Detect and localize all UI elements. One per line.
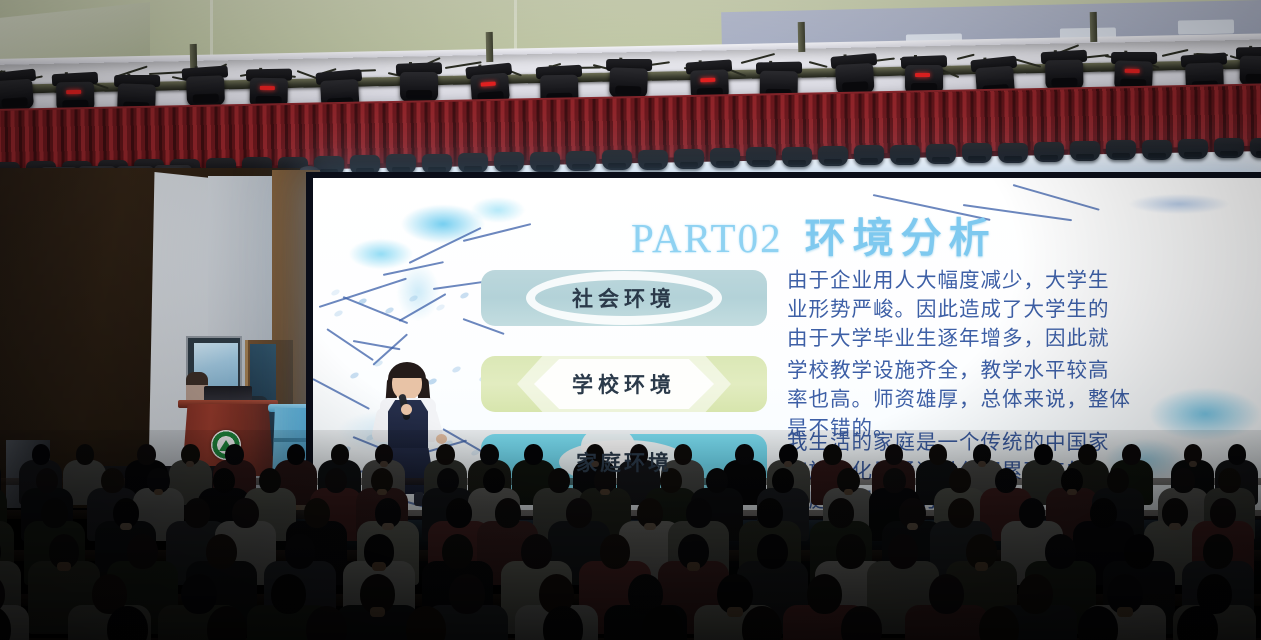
audience-member-neck [186, 461, 194, 466]
audience-member-head [949, 468, 971, 493]
hand [401, 404, 412, 415]
audience-member-head [225, 444, 244, 465]
audience-member-neck [644, 523, 656, 531]
lamp-led-indicator [481, 81, 496, 86]
audience-member-head [32, 444, 51, 465]
audience-member-neck [1189, 461, 1197, 466]
audience-member-neck [978, 461, 986, 466]
stage-light [674, 149, 704, 169]
audience-member-head [437, 468, 459, 493]
audience-member-head [41, 498, 67, 528]
lamp-lens [193, 94, 219, 104]
audience-member-neck [57, 562, 70, 571]
stage-light [530, 152, 560, 172]
stage-light [854, 145, 884, 165]
audience-member-head [735, 444, 754, 465]
audience-member-head [1045, 534, 1076, 569]
stage-light [422, 154, 452, 174]
lamp-body [1240, 56, 1261, 87]
audience-member-head [1078, 444, 1097, 465]
stage-light [746, 147, 776, 167]
audience-member-head [823, 444, 842, 465]
audience-member-neck [120, 523, 132, 531]
stage-light [602, 150, 632, 170]
lamp-body [1045, 59, 1084, 90]
audience-member-head [524, 444, 543, 465]
lamp-led-indicator [700, 77, 715, 82]
audience-member-head [449, 574, 484, 614]
stage-light [1045, 59, 1084, 90]
audience-member-head [888, 534, 919, 569]
section-body-social: 由于企业用人大幅度减少，大学生 业形势严峻。因此造成了大学生的 由于大学毕业生逐… [787, 266, 1110, 353]
audience-member-head [1203, 534, 1234, 569]
section-label-text: 社会环境 [572, 283, 676, 313]
audience-member-head [325, 468, 347, 493]
audience-member-head [232, 498, 258, 528]
audience-member-head [480, 444, 499, 465]
stage-light [1214, 138, 1244, 158]
audience-member-head [304, 498, 330, 528]
stage-light [962, 143, 992, 163]
audience-member-head [181, 574, 216, 614]
stage-light [638, 150, 668, 170]
audience-member-head [1018, 574, 1053, 614]
lamp-led-indicator [66, 90, 81, 94]
audience-member-head [885, 444, 904, 465]
audience-member-head [1090, 498, 1116, 528]
audience-member-head [686, 498, 712, 528]
audience-member-head [883, 468, 905, 493]
slide-title-heading: 环境分析 [805, 214, 997, 262]
stage-light [458, 153, 488, 173]
body-line: 业形势严峻。因此造成了大学生的 [787, 295, 1110, 324]
audience-member-head [757, 498, 783, 528]
audience-member-neck [372, 562, 385, 571]
audience-member-head [1172, 468, 1194, 493]
audience-member-head [1107, 468, 1129, 493]
audience-member-head [995, 468, 1017, 493]
audience-member-head [548, 468, 570, 493]
audience-member-head [287, 444, 306, 465]
audience-member-head [1218, 468, 1240, 493]
lamp-led-indicator [915, 73, 930, 77]
section-label-social-environment: 社会环境 [481, 270, 767, 326]
lamp-body [400, 72, 438, 102]
stage-light [566, 151, 596, 171]
stage-light [1070, 141, 1100, 161]
audience-member-head [1034, 444, 1053, 465]
lamp-lens [1, 97, 28, 108]
audience-member-head [483, 468, 505, 493]
audience-member-head [1210, 498, 1236, 528]
audience-member-head [521, 534, 552, 569]
audience-member-neck [382, 523, 394, 531]
audience-member-neck [975, 562, 988, 571]
body-line: 率也高。师资雄厚，总体来说，整体 [787, 385, 1131, 414]
audience-member-head [929, 574, 964, 614]
audience-member-head [206, 534, 237, 569]
audience-member-head [836, 534, 867, 569]
stage-light [609, 67, 648, 98]
audience-member-head [807, 574, 842, 614]
section-label-text: 学校环境 [572, 369, 676, 399]
audience-member-head [76, 444, 95, 465]
stage-light [1106, 140, 1136, 160]
audience-member-head [1228, 444, 1247, 465]
lamp-body [835, 63, 875, 95]
lamp-body [0, 79, 34, 112]
lamp-lens [1246, 74, 1261, 83]
audience-member-head [948, 498, 974, 528]
audience-member-neck [1169, 523, 1181, 531]
audience-member-head [1122, 444, 1141, 465]
stage-light [835, 63, 875, 95]
audience-member-head [757, 534, 788, 569]
stage-light [998, 143, 1028, 163]
audience-member-head [101, 468, 123, 493]
stage-light [1034, 142, 1064, 162]
audience-member-head [184, 498, 210, 528]
section-label-school-environment: 学校环境 [481, 356, 767, 412]
audience-member-head [600, 534, 631, 569]
audience-member-neck [377, 489, 387, 496]
audience-member-head [213, 468, 235, 493]
audience-member-head [271, 574, 306, 614]
audience-member-neck [1117, 607, 1133, 617]
audience-member-head [127, 534, 158, 569]
stage-light [0, 79, 34, 112]
audience-member-head [137, 444, 156, 465]
slide-title: PART02环境分析 [631, 204, 997, 264]
audience-member-head [674, 444, 693, 465]
lamp-lens [842, 81, 868, 91]
lamp-lens [1051, 77, 1077, 86]
stage-light [1178, 139, 1208, 159]
audience-member-head [566, 498, 592, 528]
audience-member-head [331, 444, 350, 465]
stage-light [1240, 56, 1261, 87]
ceiling-light-panel [1178, 19, 1234, 34]
audience-member-head [36, 468, 58, 493]
watercolor-decoration-topright [1069, 178, 1249, 244]
audience-member-head [436, 444, 455, 465]
audience-member-neck [784, 461, 792, 466]
slide-title-part-number: PART02 [631, 215, 783, 261]
audience-member-neck [1067, 489, 1077, 496]
audience-member-head [828, 498, 854, 528]
body-line: 学校教学设施齐全，教学水平较高 [787, 356, 1131, 385]
stage-light [1250, 138, 1261, 158]
audience-member-head [442, 534, 473, 569]
audience-member-head [259, 468, 281, 493]
lamp-lens [406, 90, 432, 99]
lamp-lens [615, 86, 641, 96]
audience-member-neck [727, 607, 743, 617]
stage-light [782, 147, 812, 167]
audience-member-neck [154, 489, 164, 496]
audience-member-head [706, 468, 728, 493]
stage-light [710, 148, 740, 168]
stage-light [400, 72, 438, 102]
lamp-body [186, 76, 225, 107]
audience-member-head [772, 468, 794, 493]
stage-light [1142, 140, 1172, 160]
audience-member-head [285, 534, 316, 569]
stage-light [926, 144, 956, 164]
stage-light [186, 76, 225, 107]
section-label-text: 家庭环境 [576, 447, 672, 477]
stage-light [818, 146, 848, 166]
audience-member-neck [844, 489, 854, 496]
body-line: 由于大学毕业生逐年增多，因此就 [787, 324, 1110, 353]
lamp-led-indicator [260, 86, 275, 90]
audience-member-neck [600, 489, 610, 496]
stage-light [494, 152, 524, 172]
audience-member-neck [907, 523, 919, 531]
audience-member-neck [380, 461, 388, 466]
audience-member-head [929, 444, 948, 465]
audience-member-head [1124, 534, 1155, 569]
truss-hanger [486, 32, 494, 62]
audience-member-neck [370, 607, 386, 617]
truss-hanger [1090, 12, 1098, 42]
lamp-body [609, 67, 648, 98]
audience-member-head [1019, 498, 1045, 528]
audience-member-head [446, 498, 472, 528]
body-line: 由于企业用人大幅度减少，大学生 [787, 266, 1110, 295]
stage-light [890, 145, 920, 165]
truss-hanger [798, 22, 806, 52]
lamp-led-indicator [1125, 69, 1140, 73]
auditorium-scene: PART02环境分析 社会环境 学校环境 家庭环境 由于企业用人大幅度减少，大学… [0, 0, 1261, 640]
audience-member-head [495, 498, 521, 528]
audience-member-neck [687, 562, 700, 571]
